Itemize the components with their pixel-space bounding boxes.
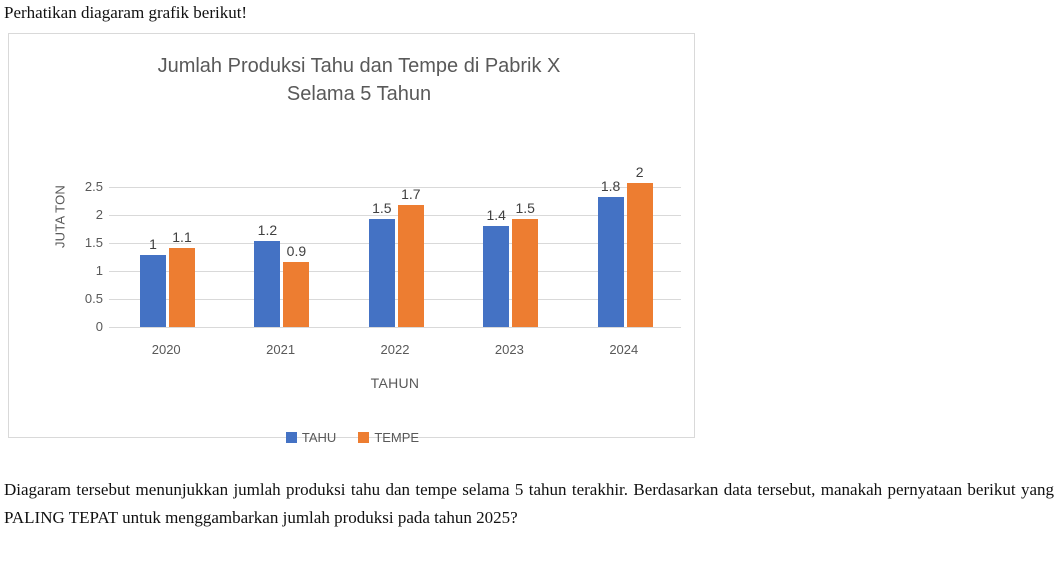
bar-group-2022: 1.5 1.7 — [338, 147, 452, 327]
bar-tempe-2020[interactable] — [169, 248, 195, 327]
question-text: Diagaram tersebut menunjukkan jumlah pro… — [4, 476, 1054, 532]
x-tick-label-2020: 2020 — [109, 342, 223, 357]
bar-tempe-2021[interactable] — [283, 262, 309, 327]
x-axis-tick-labels: 2020 2021 2022 2023 2024 — [109, 342, 681, 360]
bar-group-2023: 1.4 1.5 — [452, 147, 566, 327]
bar-label-tahu-2024: 1.8 — [589, 179, 633, 193]
bar-label-tempe-2020: 1.1 — [160, 230, 204, 244]
x-tick-label-2023: 2023 — [452, 342, 566, 357]
bar-tempe-2023[interactable] — [512, 219, 538, 327]
bar-group-2024: 1.8 2 — [567, 147, 681, 327]
y-tick-label: 0 — [67, 320, 103, 333]
x-tick-label-2024: 2024 — [567, 342, 681, 357]
chart-legend: TAHU TEMPE — [9, 430, 696, 445]
y-axis-title: JUTA TON — [53, 162, 68, 272]
y-tick-label: 1 — [67, 264, 103, 277]
bar-group-2021: 1.2 0.9 — [223, 147, 337, 327]
legend-item-tempe[interactable]: TEMPE — [358, 430, 419, 445]
bar-tempe-2024[interactable] — [627, 183, 653, 327]
y-tick-label: 0.5 — [67, 292, 103, 305]
y-axis-tick-labels: 2.5 2 1.5 1 0.5 0 — [67, 146, 103, 301]
bar-tempe-2022[interactable] — [398, 205, 424, 327]
y-tick-label: 1.5 — [67, 236, 103, 249]
bar-tahu-2024[interactable] — [598, 197, 624, 327]
bar-label-tempe-2022: 1.7 — [389, 187, 433, 201]
plot-wrapper: JUTA TON 2.5 2 1.5 1 0.5 0 1 1.1 — [9, 34, 696, 439]
bar-tahu-2022[interactable] — [369, 219, 395, 327]
bars-layer: 1 1.1 1.2 0.9 1.5 1.7 — [109, 147, 681, 327]
legend-swatch-tahu-icon — [286, 432, 297, 443]
bar-tahu-2023[interactable] — [483, 226, 509, 327]
bar-tahu-2020[interactable] — [140, 255, 166, 327]
bar-label-tempe-2023: 1.5 — [503, 201, 547, 215]
y-tick-label: 2.5 — [67, 180, 103, 193]
legend-swatch-tempe-icon — [358, 432, 369, 443]
intro-text: Perhatikan diagaram grafik berikut! — [4, 2, 247, 24]
legend-label-tahu: TAHU — [302, 430, 336, 445]
chart-container: Jumlah Produksi Tahu dan Tempe di Pabrik… — [8, 33, 695, 438]
legend-item-tahu[interactable]: TAHU — [286, 430, 336, 445]
y-tick-label: 2 — [67, 208, 103, 221]
x-tick-label-2021: 2021 — [223, 342, 337, 357]
bar-group-2020: 1 1.1 — [109, 147, 223, 327]
bar-label-tahu-2021: 1.2 — [245, 223, 289, 237]
bar-label-tempe-2024: 2 — [618, 165, 662, 179]
plot-area: 1 1.1 1.2 0.9 1.5 1.7 — [109, 147, 681, 327]
legend-label-tempe: TEMPE — [374, 430, 419, 445]
x-tick-label-2022: 2022 — [338, 342, 452, 357]
x-axis-line — [109, 327, 681, 328]
bar-label-tahu-2022: 1.5 — [360, 201, 404, 215]
x-axis-title: TAHUN — [109, 375, 681, 391]
bar-label-tempe-2021: 0.9 — [274, 244, 318, 258]
